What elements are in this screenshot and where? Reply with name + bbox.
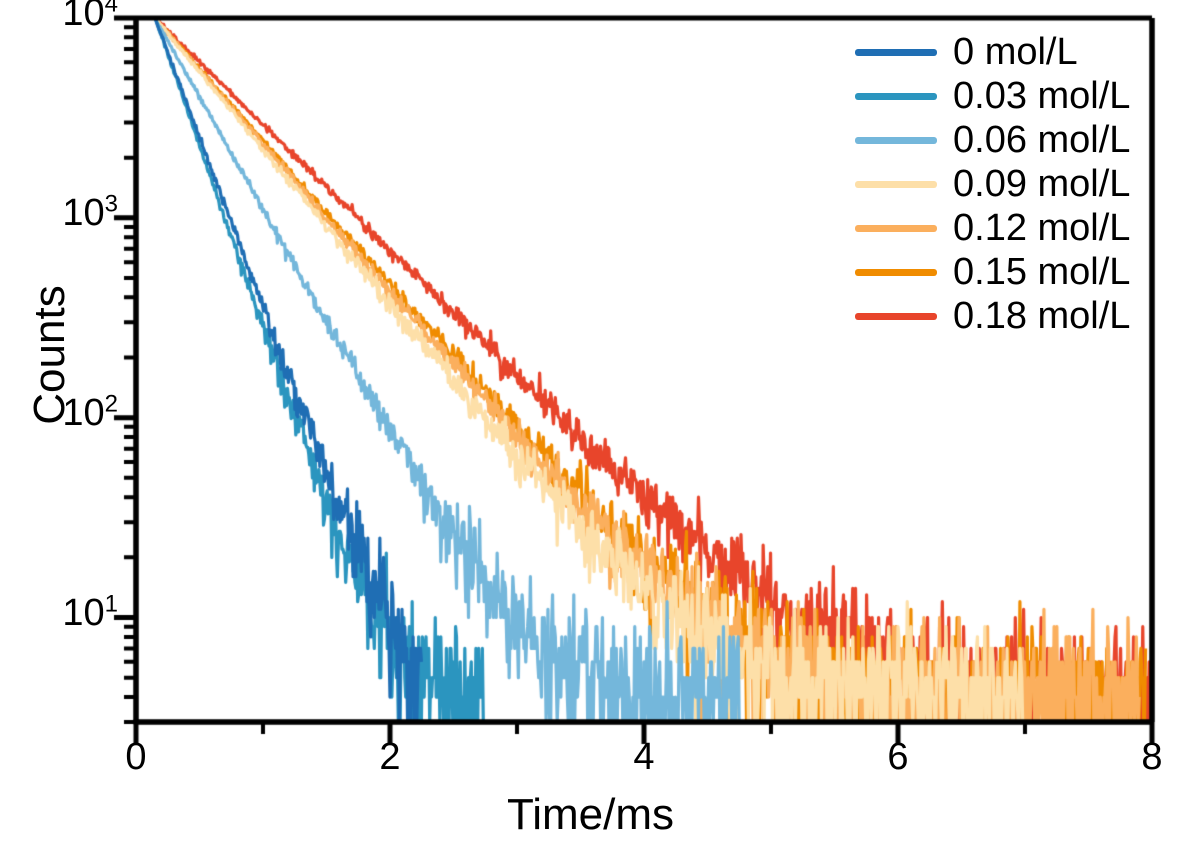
legend-color-swatch [855, 225, 937, 232]
chart-figure: 104 103 102 101 0 2 4 6 8 Time/ms Counts… [0, 0, 1181, 853]
x-axis-tick-label-2: 2 [350, 738, 430, 776]
legend-color-swatch [855, 313, 937, 320]
legend-item-label: 0.06 mol/L [953, 121, 1130, 159]
y-tick-mantissa: 10 [62, 0, 104, 34]
y-tick-exponent: 4 [105, 0, 118, 17]
y-axis-tick-label-10: 101 [0, 594, 118, 632]
x-axis-tick-label-6: 6 [858, 738, 938, 776]
legend-item-label: 0.03 mol/L [953, 77, 1130, 115]
legend-color-swatch [855, 269, 937, 276]
legend-color-swatch [855, 49, 937, 56]
legend-item[interactable]: 0.12 mol/L [855, 206, 1165, 250]
y-tick-exponent: 1 [105, 590, 118, 617]
y-axis-title: Counts [25, 205, 75, 505]
y-tick-mantissa: 10 [62, 592, 104, 634]
legend-item-label: 0 mol/L [953, 33, 1078, 71]
x-axis-tick-label-8: 8 [1112, 738, 1181, 776]
legend-item[interactable]: 0.03 mol/L [855, 74, 1165, 118]
legend-color-swatch [855, 93, 937, 100]
chart-legend: 0 mol/L 0.03 mol/L 0.06 mol/L 0.09 mol/L… [855, 30, 1165, 338]
legend-item-label: 0.18 mol/L [953, 297, 1130, 335]
y-tick-exponent: 2 [105, 390, 118, 417]
legend-item-label: 0.09 mol/L [953, 165, 1130, 203]
legend-item[interactable]: 0 mol/L [855, 30, 1165, 74]
x-axis-title: Time/ms [0, 790, 1181, 840]
legend-item[interactable]: 0.18 mol/L [855, 294, 1165, 338]
x-axis-tick-label-0: 0 [96, 738, 176, 776]
legend-item-label: 0.12 mol/L [953, 209, 1130, 247]
legend-item[interactable]: 0.15 mol/L [855, 250, 1165, 294]
y-axis-tick-label-10000: 104 [0, 0, 118, 32]
legend-item[interactable]: 0.09 mol/L [855, 162, 1165, 206]
legend-item[interactable]: 0.06 mol/L [855, 118, 1165, 162]
y-tick-exponent: 3 [105, 190, 118, 217]
x-axis-tick-label-4: 4 [604, 738, 684, 776]
legend-item-label: 0.15 mol/L [953, 253, 1130, 291]
legend-color-swatch [855, 181, 937, 188]
legend-color-swatch [855, 137, 937, 144]
